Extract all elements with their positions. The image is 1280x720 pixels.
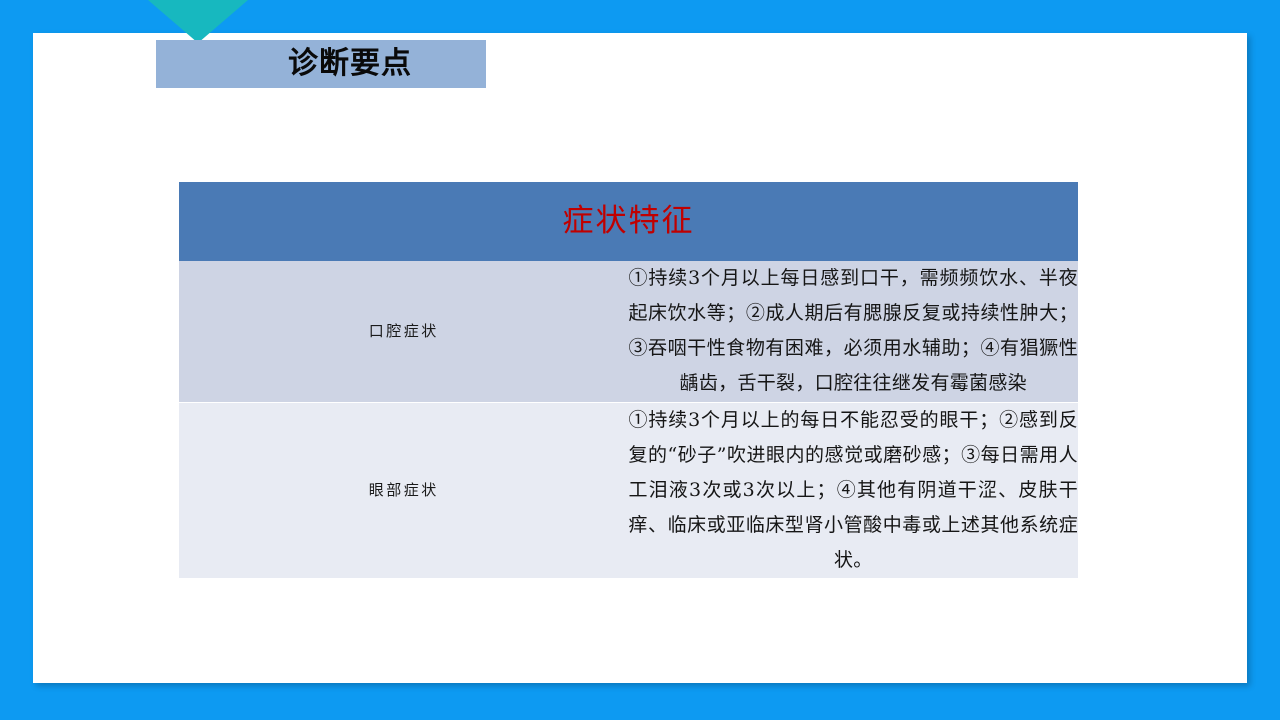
slide: 诊断要点 症状特征 口腔症状 ①持续3个月以上每日感到口干，需频频饮水、半夜起床…: [0, 0, 1280, 720]
down-triangle-icon: [148, 0, 248, 43]
symptom-characteristics-table: 症状特征 口腔症状 ①持续3个月以上每日感到口干，需频频饮水、半夜起床饮水等；②…: [179, 182, 1078, 578]
table-header-cell: 症状特征: [179, 182, 1078, 261]
table-row: 眼部症状 ①持续3个月以上的每日不能忍受的眼干；②感到反复的“砂子”吹进眼内的感…: [179, 403, 1078, 579]
row-label-cell-ocular: 眼部症状: [179, 403, 629, 579]
table-row: 口腔症状 ①持续3个月以上每日感到口干，需频频饮水、半夜起床饮水等；②成人期后有…: [179, 261, 1078, 402]
slide-title-banner: 诊断要点: [156, 40, 486, 88]
table-header-row: 症状特征: [179, 182, 1078, 261]
page-title: 诊断要点: [288, 49, 412, 79]
row-body-cell-ocular: ①持续3个月以上的每日不能忍受的眼干；②感到反复的“砂子”吹进眼内的感觉或磨砂感…: [629, 403, 1079, 579]
row-body-cell-oral: ①持续3个月以上每日感到口干，需频频饮水、半夜起床饮水等；②成人期后有腮腺反复或…: [629, 261, 1079, 402]
row-label-oral: 口腔症状: [369, 322, 439, 340]
row-body-oral: ①持续3个月以上每日感到口干，需频频饮水、半夜起床饮水等；②成人期后有腮腺反复或…: [629, 261, 1079, 402]
row-label-cell-oral: 口腔症状: [179, 261, 629, 402]
row-label-ocular: 眼部症状: [369, 481, 439, 499]
row-body-ocular: ①持续3个月以上的每日不能忍受的眼干；②感到反复的“砂子”吹进眼内的感觉或磨砂感…: [629, 403, 1079, 579]
table-header-label: 症状特征: [563, 203, 695, 239]
